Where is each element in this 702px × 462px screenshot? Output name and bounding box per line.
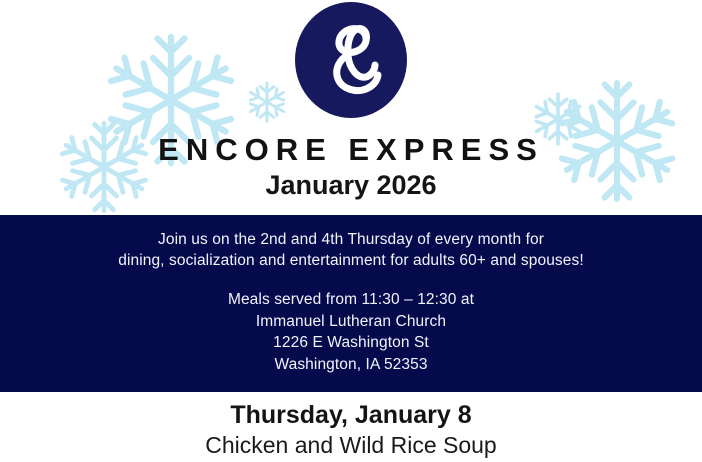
banner-venue-block: Meals served from 11:30 – 12:30 at Imman…: [0, 289, 702, 375]
event-meal: Chicken and Wild Rice Soup: [0, 430, 702, 460]
brand-title: ENCORE EXPRESS: [0, 132, 702, 168]
banner-intro-block: Join us on the 2nd and 4th Thursday of e…: [0, 229, 702, 271]
event-date: Thursday, January 8: [0, 400, 702, 430]
encore-express-flyer: ENCORE EXPRESS January 2026 Join us on t…: [0, 0, 702, 462]
encore-logo-badge: [295, 2, 407, 118]
banner-venue-city-state-zip: Washington, IA 52353: [0, 354, 702, 376]
banner-meal-time: Meals served from 11:30 – 12:30 at: [0, 289, 702, 311]
info-banner: Join us on the 2nd and 4th Thursday of e…: [0, 215, 702, 392]
flyer-footer: Thursday, January 8 Chicken and Wild Ric…: [0, 392, 702, 462]
snowflake-small-center-icon: [243, 78, 291, 130]
banner-intro-line-1: Join us on the 2nd and 4th Thursday of e…: [0, 229, 702, 250]
script-e-logo-icon: [314, 17, 388, 103]
banner-venue-street: 1226 E Washington St: [0, 332, 702, 354]
banner-intro-line-2: dining, socialization and entertainment …: [0, 250, 702, 271]
flyer-header: ENCORE EXPRESS January 2026: [0, 0, 702, 215]
brand-month: January 2026: [0, 170, 702, 201]
banner-venue-name: Immanuel Lutheran Church: [0, 311, 702, 333]
